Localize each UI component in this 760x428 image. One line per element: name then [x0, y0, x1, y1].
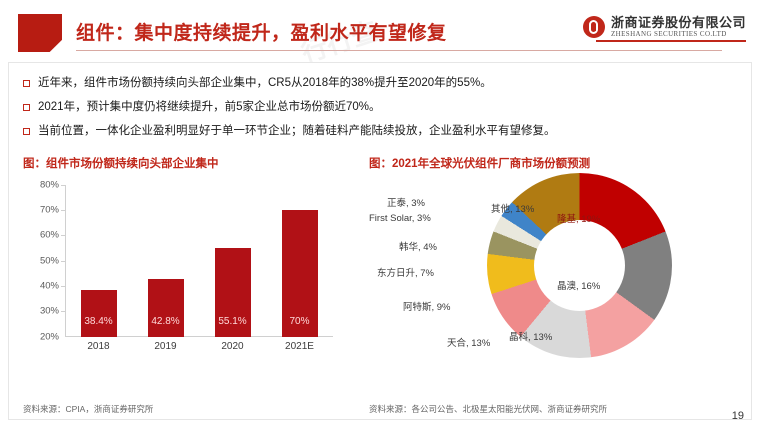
list-item: 近年来，组件市场份额持续向头部企业集中，CR5从2018年的38%提升至2020…: [23, 75, 739, 91]
bar-item[interactable]: 55.1%: [199, 185, 266, 337]
x-axis-labels: 2018 2019 2020 2021E: [65, 341, 333, 352]
slice-label-chint: 正泰, 3%: [387, 195, 425, 209]
square-bullet-icon: [23, 104, 30, 111]
bullet-list: 近年来，组件市场份额持续向头部企业集中，CR5从2018年的38%提升至2020…: [23, 75, 739, 147]
logo-name-cn: 浙商证券股份有限公司: [611, 16, 746, 29]
bar-value-label: 42.8%: [151, 316, 179, 327]
bar[interactable]: 70%: [282, 210, 318, 337]
bullet-text: 当前位置，一体化企业盈利明显好于单一环节企业；随着硅料产能陆续投放，企业盈利水平…: [38, 123, 556, 139]
list-item: 当前位置，一体化企业盈利明显好于单一环节企业；随着硅料产能陆续投放，企业盈利水平…: [23, 123, 739, 139]
slice-label-risen: 东方日升, 7%: [377, 265, 434, 279]
bar[interactable]: 42.8%: [148, 279, 184, 337]
bar-series: 38.4% 42.8% 55.1%: [65, 185, 333, 337]
left-chart-source: 资料来源：CPIA，浙商证券研究所: [23, 403, 153, 415]
slide: 行行查 行行查 行行查 行行查 组件：集中度持续提升，盈利水平有望修复 浙商证券…: [0, 0, 760, 428]
x-axis-tick-label: 2019: [132, 341, 199, 352]
slide-header: 组件：集中度持续提升，盈利水平有望修复 浙商证券股份有限公司 ZHESHANG …: [0, 0, 760, 56]
list-item: 2021年，预计集中度仍将继续提升，前5家企业总市场份额近70%。: [23, 99, 739, 115]
company-logo: 浙商证券股份有限公司 ZHESHANG SECURITIES CO.LTD: [583, 10, 746, 44]
content-card: 近年来，组件市场份额持续向头部企业集中，CR5从2018年的38%提升至2020…: [8, 62, 752, 420]
x-axis-tick-label: 2021E: [266, 341, 333, 352]
y-axis-tick-label: 50%: [23, 256, 59, 267]
bar-chart: 80% 70% 60% 50% 40% 30% 20% 38.4%: [23, 177, 353, 372]
donut-chart: 隆基, 19% 晶澳, 16% 晶科, 13% 天合, 13% 阿特斯, 9% …: [369, 173, 741, 388]
slice-label-canadian: 阿特斯, 9%: [403, 299, 451, 313]
slice-label-trina: 天合, 13%: [447, 335, 490, 349]
logo-name-en: ZHESHANG SECURITIES CO.LTD: [611, 31, 746, 38]
y-axis-tick-label: 80%: [23, 180, 59, 191]
x-axis-tick-label: 2020: [199, 341, 266, 352]
y-axis-tick-label: 60%: [23, 230, 59, 241]
slice-label-first-solar: First Solar, 3%: [369, 213, 431, 224]
x-axis-tick-label: 2018: [65, 341, 132, 352]
logo-emblem-icon: [583, 16, 605, 38]
slice-label-others: 其他, 13%: [491, 201, 534, 215]
slice-label-jinko: 晶科, 13%: [509, 329, 552, 343]
bar-value-label: 55.1%: [218, 316, 246, 327]
title-marker-icon: [18, 14, 62, 52]
y-axis-tick-label: 30%: [23, 306, 59, 317]
bullet-text: 近年来，组件市场份额持续向头部企业集中，CR5从2018年的38%提升至2020…: [38, 75, 492, 91]
right-chart-panel: 图：2021年全球光伏组件厂商市场份额预测 隆基, 19% 晶澳, 16% 晶科…: [369, 155, 741, 405]
slice-label-ja-solar: 晶澳, 16%: [557, 278, 600, 292]
right-chart-source: 资料来源：各公司公告、北极星太阳能光伏网、浙商证券研究所: [369, 403, 607, 415]
logo-underline: [596, 40, 746, 42]
bar-item[interactable]: 42.8%: [132, 185, 199, 337]
bar-item[interactable]: 70%: [266, 185, 333, 337]
right-chart-caption: 图：2021年全球光伏组件厂商市场份额预测: [369, 155, 741, 171]
y-axis-tick-label: 20%: [23, 332, 59, 343]
page-title: 组件：集中度持续提升，盈利水平有望修复: [76, 18, 447, 45]
donut-hole: [534, 220, 625, 311]
left-chart-panel: 图：组件市场份额持续向头部企业集中 80% 70% 60% 50% 40% 30…: [23, 155, 368, 405]
slice-label-longi: 隆基, 19%: [557, 211, 600, 225]
logo-text: 浙商证券股份有限公司 ZHESHANG SECURITIES CO.LTD: [611, 16, 746, 38]
bullet-text: 2021年，预计集中度仍将继续提升，前5家企业总市场份额近70%。: [38, 99, 381, 115]
square-bullet-icon: [23, 80, 30, 87]
bar-item[interactable]: 38.4%: [65, 185, 132, 337]
page-number: 19: [732, 410, 744, 422]
square-bullet-icon: [23, 128, 30, 135]
slice-label-hanwha: 韩华, 4%: [399, 239, 437, 253]
bar-value-label: 38.4%: [84, 316, 112, 327]
y-axis-tick-label: 70%: [23, 205, 59, 216]
title-divider: [76, 50, 722, 51]
y-axis-tick-label: 40%: [23, 281, 59, 292]
left-chart-caption: 图：组件市场份额持续向头部企业集中: [23, 155, 368, 171]
bar[interactable]: 38.4%: [81, 290, 117, 337]
bar[interactable]: 55.1%: [215, 248, 251, 337]
bar-value-label: 70%: [289, 316, 309, 327]
